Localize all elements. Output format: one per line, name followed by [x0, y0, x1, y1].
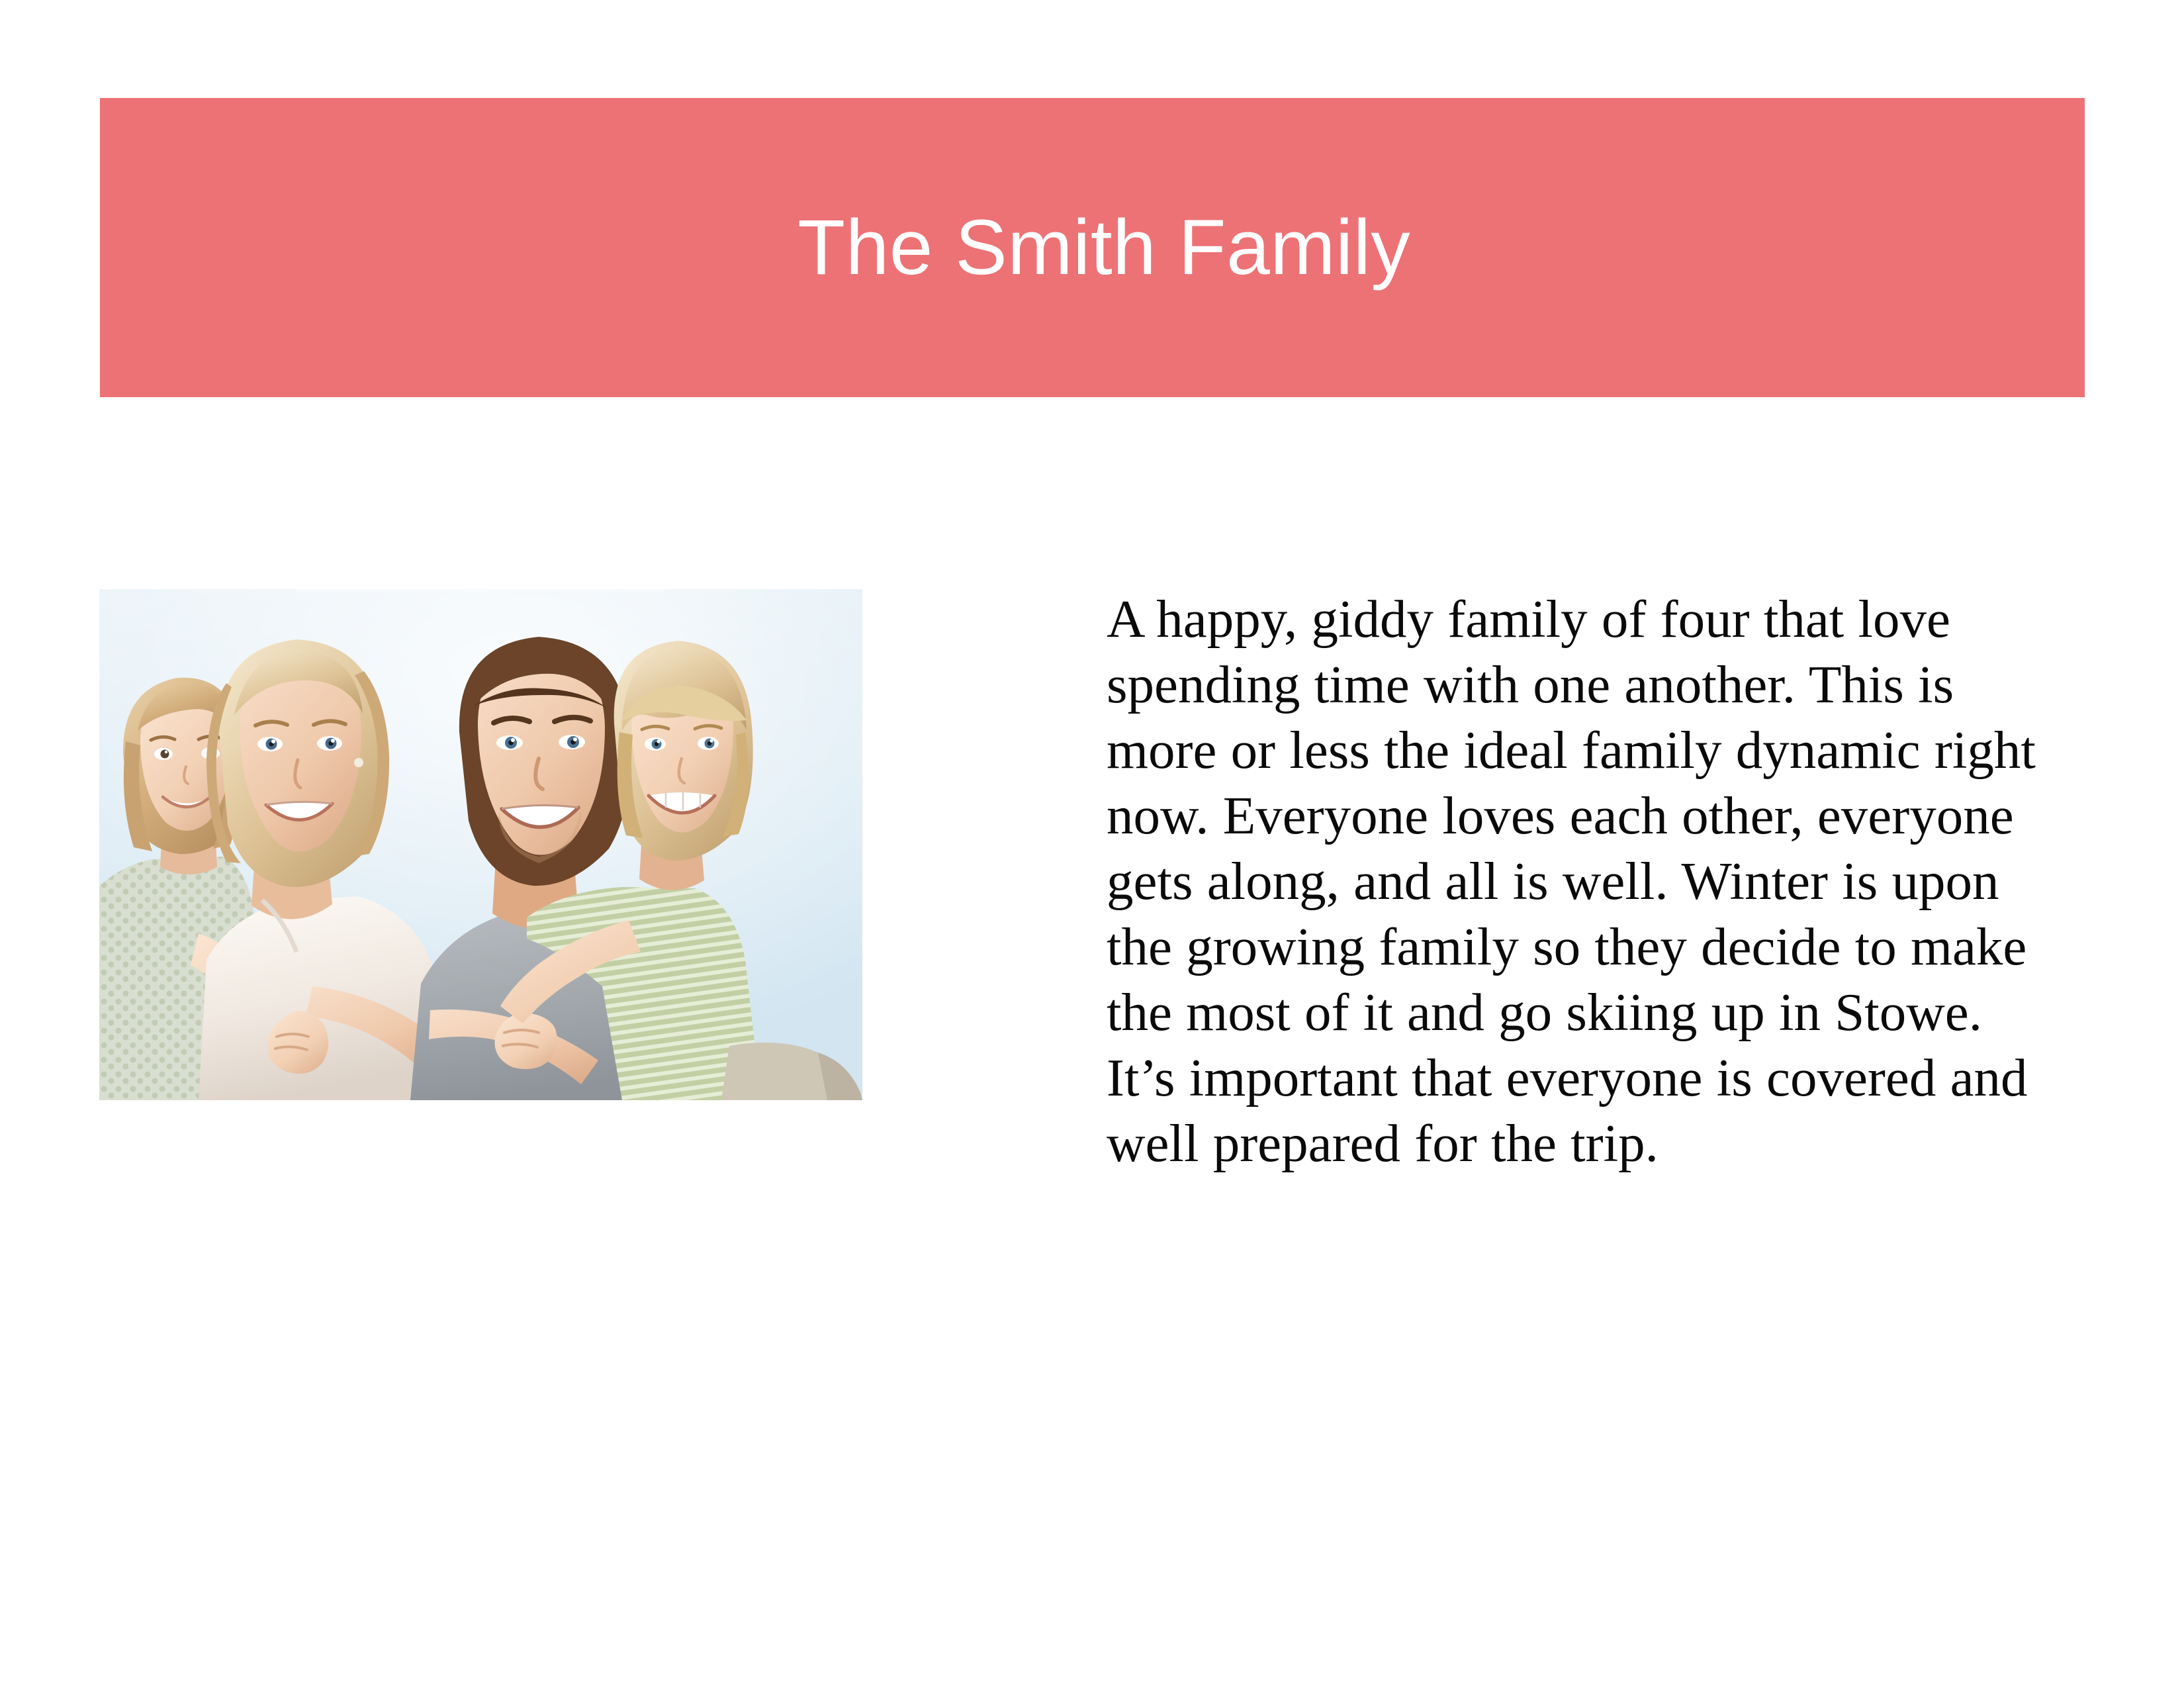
page-title: The Smith Family: [797, 98, 1410, 397]
slide-canvas: The Smith Family: [0, 0, 2184, 1688]
family-photo: [99, 589, 862, 1100]
title-banner: The Smith Family: [100, 98, 2085, 397]
family-photo-illustration: [99, 589, 862, 1100]
body-paragraph: A happy, giddy family of four that love …: [1107, 586, 2046, 1176]
